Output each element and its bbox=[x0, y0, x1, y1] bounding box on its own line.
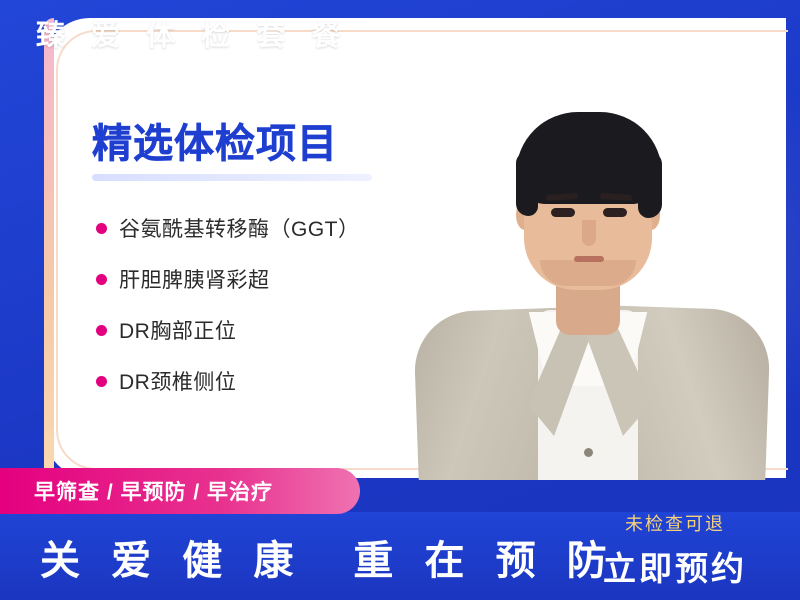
headline-block: 精选体检项目 bbox=[92, 122, 422, 181]
hair-side-right bbox=[638, 152, 662, 218]
list-item: DR颈椎侧位 bbox=[96, 356, 436, 406]
list-item-label: 谷氨酰基转移酶（GGT） bbox=[119, 213, 360, 243]
eye-left bbox=[551, 208, 575, 217]
bullet-dot-icon bbox=[96, 274, 107, 285]
chin-shading bbox=[540, 260, 636, 286]
bullet-dot-icon bbox=[96, 223, 107, 234]
pink-ribbon-text: 早筛查 / 早预防 / 早治疗 bbox=[34, 476, 273, 506]
eye-right bbox=[603, 208, 627, 217]
list-item: 肝胆脾胰肾彩超 bbox=[96, 254, 436, 304]
bullet-dot-icon bbox=[96, 376, 107, 387]
top-title-ribbon: 臻 爱 体 检 套 餐 bbox=[0, 0, 400, 66]
list-item-label: 肝胆脾胰肾彩超 bbox=[119, 264, 270, 294]
model-photo bbox=[388, 60, 788, 480]
bullet-dot-icon bbox=[96, 325, 107, 336]
list-item: DR胸部正位 bbox=[96, 305, 436, 355]
cta-block[interactable]: 未检查可退 立即预约 bbox=[572, 510, 778, 590]
list-item-label: DR胸部正位 bbox=[119, 315, 236, 345]
hair-side-left bbox=[516, 152, 538, 216]
nose bbox=[582, 220, 596, 246]
bottom-slogan: 关 爱 健 康 重 在 预 防 bbox=[40, 528, 617, 586]
page-title: 精选体检项目 bbox=[92, 122, 422, 166]
item-list: 谷氨酰基转移酶（GGT） 肝胆脾胰肾彩超 DR胸部正位 DR颈椎侧位 bbox=[96, 203, 436, 407]
cta-subtext: 未检查可退 bbox=[572, 510, 778, 536]
poster-root: 臻 爱 体 检 套 餐 精选体检项目 谷氨酰基转移酶（GGT） 肝胆脾胰肾彩超 … bbox=[0, 0, 800, 600]
suit-button bbox=[584, 448, 593, 457]
top-title-text: 臻 爱 体 检 套 餐 bbox=[36, 12, 349, 54]
cta-button-label[interactable]: 立即预约 bbox=[572, 542, 778, 590]
headline-underline bbox=[92, 174, 372, 181]
card-left-gradient-bar bbox=[44, 18, 54, 478]
list-item: 谷氨酰基转移酶（GGT） bbox=[96, 203, 436, 253]
list-item-label: DR颈椎侧位 bbox=[119, 366, 236, 396]
pink-ribbon: 早筛查 / 早预防 / 早治疗 bbox=[0, 468, 360, 514]
mouth bbox=[574, 256, 604, 262]
